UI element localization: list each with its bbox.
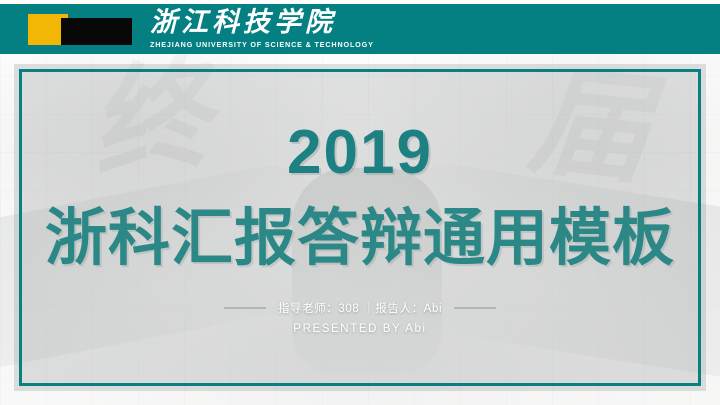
- subtitle-row: 指导老师：308 ｜报告人：Abi: [224, 300, 496, 316]
- decorative-line-right: [454, 307, 496, 309]
- decorative-line-left: [224, 307, 266, 309]
- university-name-en: ZHEJIANG UNIVERSITY OF SCIENCE & TECHNOL…: [150, 40, 374, 49]
- header-bar: 浙江科技学院 ZHEJIANG UNIVERSITY OF SCIENCE & …: [0, 4, 720, 54]
- title-content: 2019 浙科汇报答辩通用模板 指导老师：308 ｜报告人：Abi PRESEN…: [0, 69, 720, 386]
- university-name-block: 浙江科技学院 ZHEJIANG UNIVERSITY OF SCIENCE & …: [150, 9, 374, 48]
- university-name-cn: 浙江科技学院: [150, 9, 374, 37]
- black-bar-icon: [61, 18, 132, 45]
- subtitle-cn: 指导老师：308 ｜报告人：Abi: [278, 300, 442, 316]
- presentation-title-slide: 终 届 浙江科技学院 ZHEJIANG UNIVERSITY OF SCIENC…: [0, 0, 720, 405]
- university-logo: [28, 14, 132, 45]
- subtitle-en: PRESENTED BY Abi: [293, 323, 426, 335]
- page-title: 浙科汇报答辩通用模板: [45, 208, 675, 270]
- year-text: 2019: [287, 122, 433, 184]
